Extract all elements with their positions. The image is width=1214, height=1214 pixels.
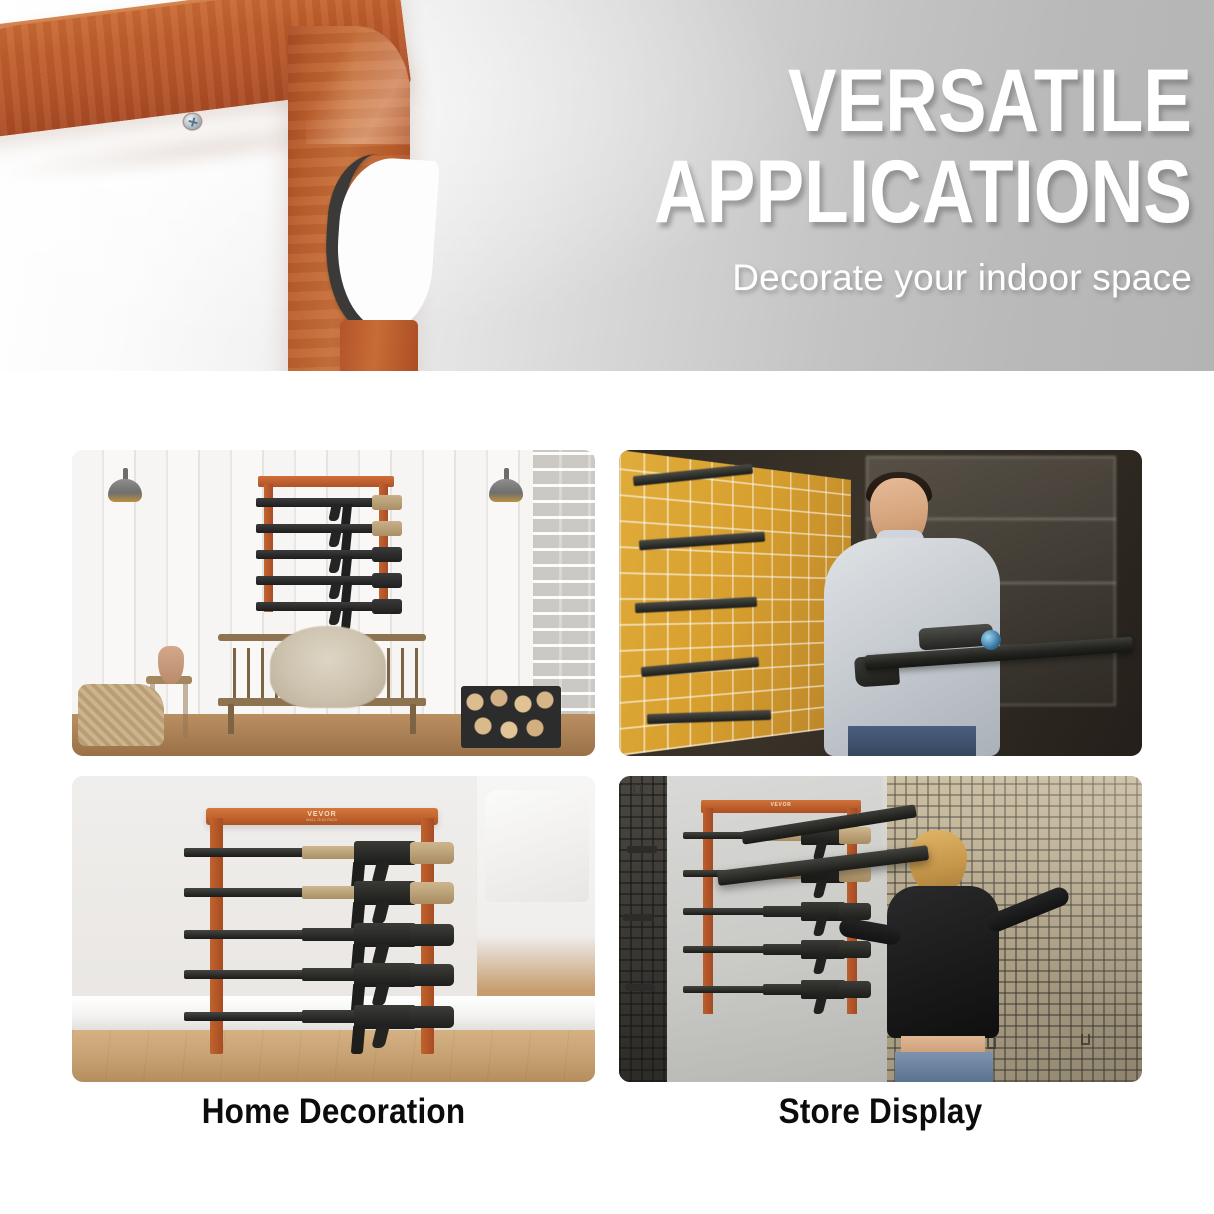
caption-store-display: Store Display bbox=[645, 1092, 1116, 1144]
rifle-stock bbox=[410, 924, 454, 946]
hero-title-line-2: APPLICATIONS bbox=[654, 149, 1192, 234]
rifle-grip bbox=[328, 556, 342, 573]
black-crop-top bbox=[887, 886, 999, 1038]
application-photo-grid: VEVOR WALL GUN RACK bbox=[72, 450, 1142, 1082]
firewood-stack bbox=[461, 686, 561, 748]
rifle-magazine bbox=[341, 530, 352, 552]
rifle-magazine bbox=[341, 504, 352, 526]
panel-store-pegboard-woman: VEVOR bbox=[619, 776, 1142, 1082]
hero-banner: VERSATILE APPLICATIONS Decorate your ind… bbox=[0, 0, 1214, 371]
rifle-stock bbox=[372, 547, 402, 562]
rifle-barrel bbox=[683, 946, 769, 953]
mounting-screw-icon bbox=[183, 113, 202, 130]
bench-leg bbox=[410, 704, 416, 734]
rifle-stock bbox=[372, 599, 402, 614]
pegboard-hook bbox=[633, 784, 642, 795]
gun-rack-closeup-photo bbox=[0, 8, 518, 371]
hero-title-line-1: VERSATILE bbox=[654, 58, 1192, 143]
rifle-barrel bbox=[683, 908, 769, 915]
rifle-grip bbox=[371, 984, 389, 1006]
blue-jeans bbox=[848, 726, 976, 756]
panel-home-floor-rack: VEVOR WALL GUN RACK bbox=[72, 776, 595, 1082]
panel-gun-store-man bbox=[619, 450, 1142, 756]
rifle-stock bbox=[372, 573, 402, 588]
rifle-row-5 bbox=[256, 602, 394, 611]
hero-subtitle: Decorate your indoor space bbox=[536, 257, 1192, 299]
vevor-brand-logo: VEVOR bbox=[206, 811, 438, 818]
product-marketing-image: VERSATILE APPLICATIONS Decorate your ind… bbox=[0, 0, 1214, 1214]
caption-home-decoration: Home Decoration bbox=[98, 1092, 569, 1144]
pegboard-hook bbox=[623, 914, 653, 921]
rifle-stock bbox=[410, 964, 454, 986]
rack-top-rail: VEVOR WALL GUN RACK bbox=[206, 808, 438, 825]
rifle-grip bbox=[328, 530, 342, 547]
pegboard-hook bbox=[1081, 1034, 1090, 1045]
store-customer bbox=[814, 472, 1024, 756]
pegboard-hook bbox=[625, 984, 655, 991]
bench-leg bbox=[228, 704, 234, 734]
panel-captions: Home Decoration Store Display bbox=[72, 1092, 1142, 1144]
rifle-row-3 bbox=[256, 550, 394, 559]
vevor-brand-logo: VEVOR bbox=[701, 802, 861, 808]
rifle-magazine bbox=[341, 582, 352, 604]
fur-throw bbox=[270, 626, 386, 708]
white-sofa bbox=[485, 790, 589, 902]
rifle-barrel bbox=[683, 986, 769, 993]
wall-gun-rack bbox=[258, 476, 394, 612]
rifle-magazine bbox=[341, 556, 352, 578]
rifle-barrel bbox=[184, 1012, 310, 1021]
end-post-foot bbox=[340, 320, 418, 371]
rifle-stock bbox=[410, 1006, 454, 1028]
panel-home-living-room bbox=[72, 450, 595, 756]
rifle-stock bbox=[410, 882, 454, 904]
rack-brand-tagline: WALL GUN RACK bbox=[206, 818, 438, 822]
store-staff-person bbox=[857, 830, 1029, 1082]
rifle-barrel bbox=[184, 970, 310, 979]
stool-leg bbox=[183, 684, 188, 738]
sconce-shade bbox=[108, 479, 142, 502]
rifle-stock bbox=[372, 495, 402, 510]
rifle-row-4 bbox=[256, 576, 394, 585]
wall-sconce-right bbox=[489, 468, 523, 508]
wooden-bench bbox=[218, 634, 426, 734]
wicker-basket bbox=[78, 684, 164, 746]
rifle-barrel bbox=[184, 848, 310, 857]
wall-gun-rack: VEVOR WALL GUN RACK bbox=[188, 808, 456, 1054]
rifle-grip bbox=[328, 504, 342, 521]
pegboard-hook bbox=[627, 846, 657, 853]
rifle-barrel bbox=[184, 930, 310, 939]
rifle-stock bbox=[410, 842, 454, 864]
hero-text-block: VERSATILE APPLICATIONS Decorate your ind… bbox=[536, 58, 1192, 299]
sconce-shade bbox=[489, 479, 523, 502]
rifle-stock bbox=[372, 521, 402, 536]
rifle-row-1 bbox=[256, 498, 394, 507]
rifle-grip bbox=[328, 582, 342, 599]
rifle-grip bbox=[371, 1026, 389, 1048]
rack-top-rail bbox=[258, 476, 394, 487]
rifle-barrel bbox=[184, 888, 310, 897]
rifle-magazine bbox=[351, 1026, 365, 1054]
wall-sconce-left bbox=[108, 468, 142, 508]
rifle-grip bbox=[371, 902, 389, 924]
jeans bbox=[895, 1052, 993, 1082]
rifle-row-2 bbox=[256, 524, 394, 533]
rack-top-rail: VEVOR bbox=[701, 800, 861, 813]
